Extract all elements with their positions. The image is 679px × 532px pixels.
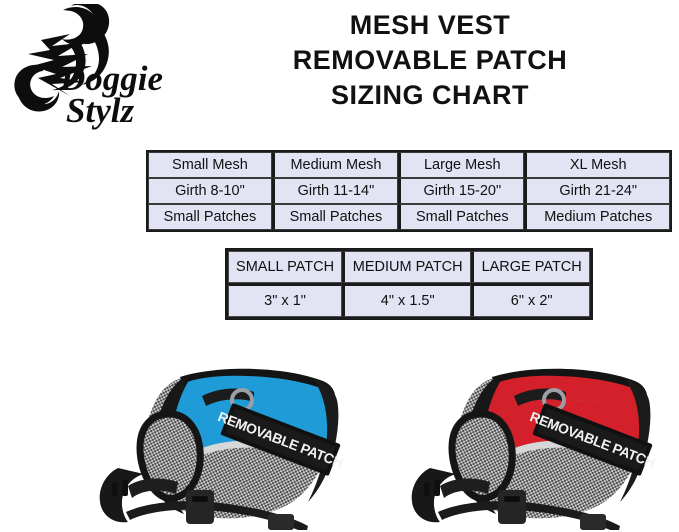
product-image-red-vest: REMOVABLE PATCH [390, 362, 679, 530]
side-release-buckle [268, 514, 294, 530]
mesh-girth-medium: Girth 11-14" [272, 178, 398, 204]
strap-slider-buckle [498, 490, 526, 524]
mesh-patch-small: Small Patches [148, 204, 272, 230]
patch-header-large: LARGE PATCH [471, 251, 590, 283]
buckle-slot [504, 496, 520, 502]
product-image-blue-vest: REMOVABLE PATCH [78, 362, 368, 530]
page-title: MESH VEST REMOVABLE PATCH SIZING CHART [205, 8, 655, 113]
mesh-patch-medium: Small Patches [272, 204, 398, 230]
title-line-3: SIZING CHART [205, 78, 655, 113]
strap-keeper-2 [434, 480, 440, 496]
mesh-size-name-xl: XL Mesh [524, 152, 670, 178]
patch-size-small: 3" x 1" [228, 283, 342, 317]
table-row: Girth 8-10" Girth 11-14" Girth 15-20" Gi… [148, 178, 670, 204]
strap-slider-buckle [186, 490, 214, 524]
table-row: SMALL PATCH MEDIUM PATCH LARGE PATCH [228, 251, 590, 283]
strap-keeper-2 [122, 480, 128, 496]
patch-size-medium: 4" x 1.5" [342, 283, 471, 317]
brand-name-line2: Stylz [66, 91, 134, 130]
title-line-1: MESH VEST [205, 8, 655, 43]
mesh-girth-small: Girth 8-10" [148, 178, 272, 204]
patch-size-large: 6" x 2" [471, 283, 590, 317]
patch-header-medium: MEDIUM PATCH [342, 251, 471, 283]
sizing-chart-page: Doggie Stylz MESH VEST REMOVABLE PATCH S… [0, 0, 679, 532]
brand-wordmark: Doggie Stylz [59, 59, 163, 130]
mesh-patch-large: Small Patches [398, 204, 524, 230]
buckle-slot [192, 496, 208, 502]
mesh-size-name-small: Small Mesh [148, 152, 272, 178]
patch-header-small: SMALL PATCH [228, 251, 342, 283]
patch-sizing-table: SMALL PATCH MEDIUM PATCH LARGE PATCH 3" … [225, 248, 593, 320]
mesh-size-name-medium: Medium Mesh [272, 152, 398, 178]
title-line-2: REMOVABLE PATCH [205, 43, 655, 78]
table-row: 3" x 1" 4" x 1.5" 6" x 2" [228, 283, 590, 317]
side-release-buckle [580, 514, 606, 530]
strap-keeper [424, 482, 430, 496]
mesh-girth-xl: Girth 21-24" [524, 178, 670, 204]
table-row: Small Patches Small Patches Small Patche… [148, 204, 670, 230]
mesh-patch-xl: Medium Patches [524, 204, 670, 230]
mesh-sizing-table: Small Mesh Medium Mesh Large Mesh XL Mes… [146, 150, 672, 232]
mesh-size-name-large: Large Mesh [398, 152, 524, 178]
table-row: Small Mesh Medium Mesh Large Mesh XL Mes… [148, 152, 670, 178]
mesh-girth-large: Girth 15-20" [398, 178, 524, 204]
strap-keeper [112, 482, 118, 496]
brand-logo: Doggie Stylz [8, 4, 188, 132]
